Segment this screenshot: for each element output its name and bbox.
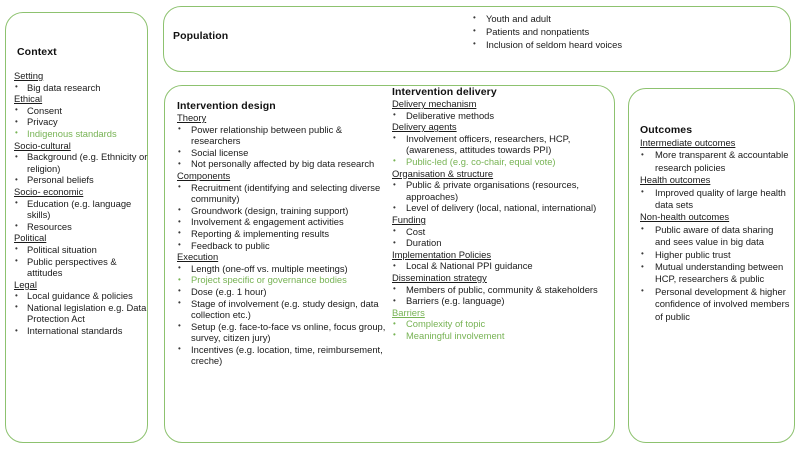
group-list: Public aware of data sharing and sees va…	[640, 224, 790, 323]
outcomes-title: Outcomes	[640, 124, 790, 136]
list-item: Cost	[392, 226, 603, 238]
group-list: Recruitment (identifying and selecting d…	[177, 182, 391, 252]
list-item: Setup (e.g. face-to-face vs online, focu…	[177, 321, 391, 344]
group-list: Local & National PPI guidance	[392, 260, 603, 272]
population-list: Youth and adultPatients and nonpatientsI…	[470, 12, 780, 52]
group-list: Political situationPublic perspectives &…	[14, 244, 148, 279]
list-item: Not personally affected by big data rese…	[177, 158, 391, 170]
list-item: Improved quality of large health data se…	[640, 187, 790, 212]
group-heading: Implementation Policies	[392, 249, 603, 261]
outcomes-body: Outcomes Intermediate outcomesMore trans…	[640, 124, 790, 323]
list-item: Political situation	[14, 244, 148, 256]
population-panel: Population Youth and adultPatients and n…	[163, 6, 791, 72]
context-panel: Context SettingBig data researchEthicalC…	[5, 12, 148, 443]
group-list: More transparent & accountable research …	[640, 149, 790, 174]
list-item: Public aware of data sharing and sees va…	[640, 224, 790, 249]
group-heading: Socio-cultural	[14, 140, 148, 152]
group-list: Power relationship between public & rese…	[177, 124, 391, 170]
list-item: Background (e.g. Ethnicity or religion)	[14, 151, 148, 174]
list-item: Higher public trust	[640, 249, 790, 261]
list-item: Power relationship between public & rese…	[177, 124, 391, 147]
list-item: Social license	[177, 147, 391, 159]
group-heading: Execution	[177, 251, 391, 263]
group-list: Length (one-off vs. multiple meetings)Pr…	[177, 263, 391, 367]
group-list: Big data research	[14, 82, 148, 94]
population-title: Population	[173, 30, 228, 42]
list-item: Involvement officers, researchers, HCP,(…	[392, 133, 603, 156]
group-list: Deliberative methods	[392, 110, 603, 122]
group-heading: Barriers	[392, 307, 603, 319]
list-item: Public-led (e.g. co-chair, equal vote)	[392, 156, 603, 168]
list-item: Involvement & engagement activities	[177, 216, 391, 228]
list-item: Reporting & implementing results	[177, 228, 391, 240]
intervention-delivery-title: Intervention delivery	[392, 86, 603, 98]
intervention-delivery-column: Intervention delivery Delivery mechanism…	[392, 86, 603, 341]
list-item: Length (one-off vs. multiple meetings)	[177, 263, 391, 275]
group-list: Complexity of topicMeaningful involvemen…	[392, 318, 603, 341]
group-heading: Non-health outcomes	[640, 211, 790, 223]
list-item: Big data research	[14, 82, 148, 94]
list-item: Level of delivery (local, national, inte…	[392, 202, 603, 214]
list-item: Education (e.g. language skills)	[14, 198, 148, 221]
list-item: Project specific or governance bodies	[177, 274, 391, 286]
list-item: Privacy	[14, 116, 148, 128]
group-list: Local guidance & policiesNational legisl…	[14, 290, 148, 336]
list-item: Feedback to public	[177, 240, 391, 252]
list-item: Stage of involvement (e.g. study design,…	[177, 298, 391, 321]
list-item: Consent	[14, 105, 148, 117]
list-item: Indigenous standards	[14, 128, 148, 140]
outcomes-panel: Outcomes Intermediate outcomesMore trans…	[628, 88, 795, 443]
list-item: International standards	[14, 325, 148, 337]
list-item: Incentives (e.g. location, time, reimbur…	[177, 344, 391, 367]
outcomes-sections: Intermediate outcomesMore transparent & …	[640, 137, 790, 323]
group-heading: Socio- economic	[14, 186, 148, 198]
list-item: Local guidance & policies	[14, 290, 148, 302]
group-heading: Components	[177, 170, 391, 182]
group-heading: Setting	[14, 70, 148, 82]
list-item: Public perspectives & attitudes	[14, 256, 148, 279]
list-item: Mutual understanding between HCP, resear…	[640, 261, 790, 286]
list-item: Duration	[392, 237, 603, 249]
group-heading: Organisation & structure	[392, 168, 603, 180]
list-item: Complexity of topic	[392, 318, 603, 330]
context-sections: SettingBig data researchEthicalConsentPr…	[14, 70, 148, 337]
group-heading: Funding	[392, 214, 603, 226]
intervention-delivery-sections: Delivery mechanismDeliberative methodsDe…	[392, 98, 603, 341]
group-heading: Ethical	[14, 93, 148, 105]
group-list: Improved quality of large health data se…	[640, 187, 790, 212]
list-item: Barriers (e.g. language)	[392, 295, 603, 307]
group-list: Involvement officers, researchers, HCP,(…	[392, 133, 603, 168]
group-heading: Theory	[177, 112, 391, 124]
intervention-design-title: Intervention design	[177, 100, 391, 112]
list-item: National legislation e.g. Data Protectio…	[14, 302, 148, 325]
list-item: Members of public, community & stakehold…	[392, 284, 603, 296]
list-item: Personal beliefs	[14, 174, 148, 186]
list-item: Recruitment (identifying and selecting d…	[177, 182, 391, 205]
group-heading: Delivery mechanism	[392, 98, 603, 110]
list-item: Local & National PPI guidance	[392, 260, 603, 272]
group-heading: Legal	[14, 279, 148, 291]
group-list: Background (e.g. Ethnicity or religion)P…	[14, 151, 148, 186]
group-list: Members of public, community & stakehold…	[392, 284, 603, 307]
list-item: More transparent & accountable research …	[640, 149, 790, 174]
group-list: CostDuration	[392, 226, 603, 249]
list-item: Patients and nonpatients	[470, 25, 780, 38]
intervention-design-sections: TheoryPower relationship between public …	[177, 112, 391, 367]
group-heading: Political	[14, 232, 148, 244]
list-item: Meaningful involvement	[392, 330, 603, 342]
group-list: Public & private organisations (resource…	[392, 179, 603, 214]
context-title: Context	[17, 46, 57, 58]
list-item: Dose (e.g. 1 hour)	[177, 286, 391, 298]
list-item: Public & private organisations (resource…	[392, 179, 603, 202]
group-heading: Delivery agents	[392, 121, 603, 133]
list-item: Groundwork (design, training support)	[177, 205, 391, 217]
group-heading: Dissemination strategy	[392, 272, 603, 284]
group-heading: Health outcomes	[640, 174, 790, 186]
intervention-design-column: Intervention design TheoryPower relation…	[177, 100, 391, 367]
list-item: Youth and adult	[470, 12, 780, 25]
intervention-panel: Intervention design TheoryPower relation…	[164, 85, 615, 443]
list-item: Deliberative methods	[392, 110, 603, 122]
list-item: Resources	[14, 221, 148, 233]
group-list: ConsentPrivacyIndigenous standards	[14, 105, 148, 140]
list-item: Personal development & higher confidence…	[640, 286, 790, 323]
group-heading: Intermediate outcomes	[640, 137, 790, 149]
list-item: Inclusion of seldom heard voices	[470, 38, 780, 51]
group-list: Education (e.g. language skills)Resource…	[14, 198, 148, 233]
